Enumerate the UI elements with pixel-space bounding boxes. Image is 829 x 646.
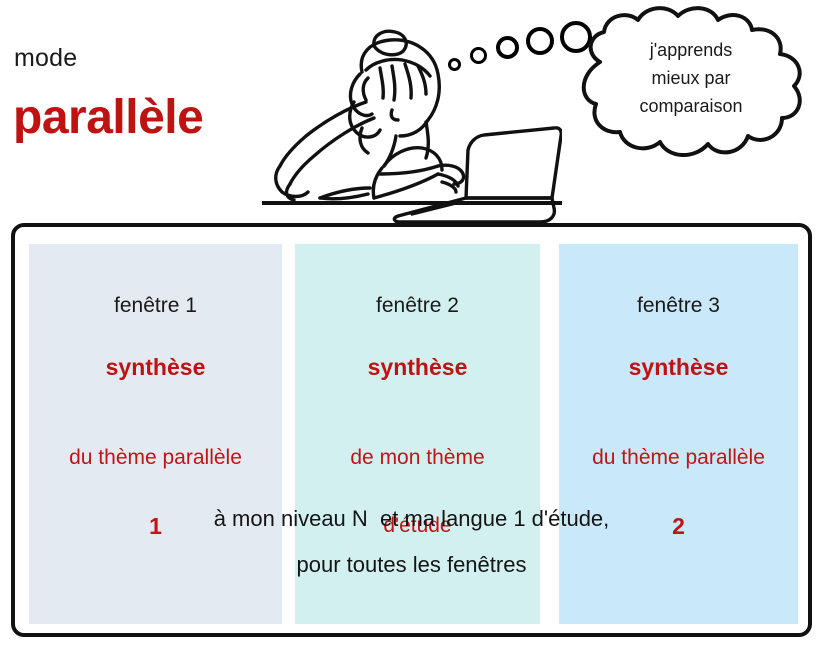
panel-1-title: fenêtre 1 — [29, 294, 282, 318]
panel-3-subtitle-text: du thème parallèle — [592, 446, 765, 469]
header-area: mode parallèle — [0, 0, 829, 223]
thought-dot-2 — [470, 47, 487, 64]
thought-bubble: j'apprends mieux par comparaison — [562, 4, 820, 164]
windows-frame: fenêtre 1 synthèse du thème parallèle 1 … — [11, 223, 812, 637]
panel-2-subtitle-text: de mon thème — [350, 446, 484, 469]
panel-3-title: fenêtre 3 — [559, 294, 798, 318]
panel-2-title: fenêtre 2 — [295, 294, 540, 318]
thought-dot-4 — [526, 27, 554, 55]
thought-dot-1 — [448, 58, 461, 71]
panel-2-synthese-label: synthèse — [295, 354, 540, 381]
panel-1-subtitle-text: du thème parallèle — [69, 446, 242, 469]
thought-bubble-line-1: j'apprends — [592, 36, 790, 64]
global-note: à mon niveau N et ma langue 1 d'étude, p… — [15, 496, 808, 588]
thought-dot-3 — [496, 36, 519, 59]
mode-label: mode — [14, 44, 77, 73]
thought-bubble-line-2: mieux par — [592, 64, 790, 92]
mode-title: parallèle — [13, 90, 203, 145]
global-note-line-2: pour toutes les fenêtres — [15, 542, 808, 588]
thought-bubble-text: j'apprends mieux par comparaison — [592, 36, 790, 120]
panel-3-synthese-label: synthèse — [559, 354, 798, 381]
global-note-line-1: à mon niveau N et ma langue 1 d'étude, — [15, 496, 808, 542]
thought-bubble-line-3: comparaison — [592, 92, 790, 120]
thought-trail-dots — [440, 18, 570, 88]
panel-1-synthese-label: synthèse — [29, 354, 282, 381]
